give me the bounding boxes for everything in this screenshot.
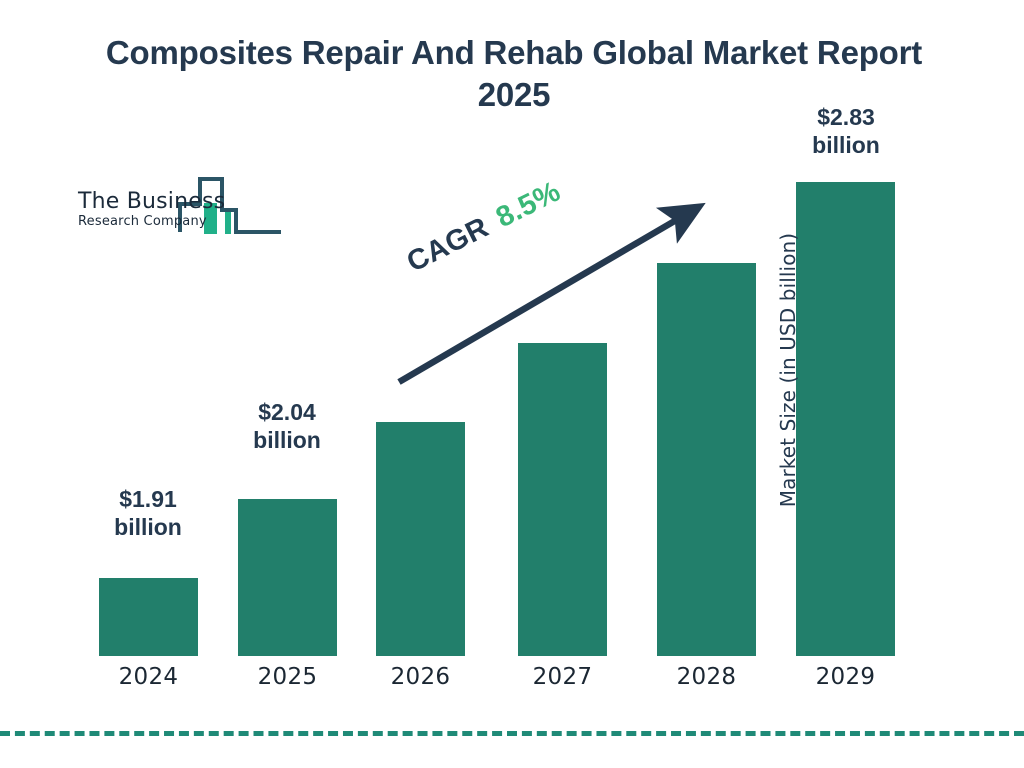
x-axis-tick-2024: 2024 [99, 664, 198, 690]
logo-wordmark: The Business Research Company [78, 190, 225, 229]
x-axis-tick-2027: 2027 [518, 664, 607, 690]
logo-line-1: The Business [78, 190, 225, 213]
x-axis-tick-2029: 2029 [796, 664, 895, 690]
bar-2024 [99, 578, 198, 656]
bar-value-label-2024: $1.91 billion [78, 485, 218, 541]
x-axis-tick-2025: 2025 [238, 664, 337, 690]
bar-2026 [376, 422, 465, 656]
x-axis-tick-2028: 2028 [657, 664, 756, 690]
bar-2025 [238, 499, 337, 656]
footer-divider [0, 731, 1024, 736]
x-axis-tick-2026: 2026 [376, 664, 465, 690]
y-axis-title: Market Size (in USD billion) [776, 200, 800, 540]
cagr-arrow-icon [385, 190, 715, 395]
plot-area: $1.91 billion $2.04 billion $2.83 billio… [0, 0, 1024, 768]
logo-line-2: Research Company [78, 215, 225, 229]
bar-2029 [796, 182, 895, 656]
chart-canvas: Composites Repair And Rehab Global Marke… [0, 0, 1024, 768]
bar-value-label-2025: $2.04 billion [217, 398, 357, 454]
bar-value-label-2029: $2.83 billion [776, 103, 916, 159]
